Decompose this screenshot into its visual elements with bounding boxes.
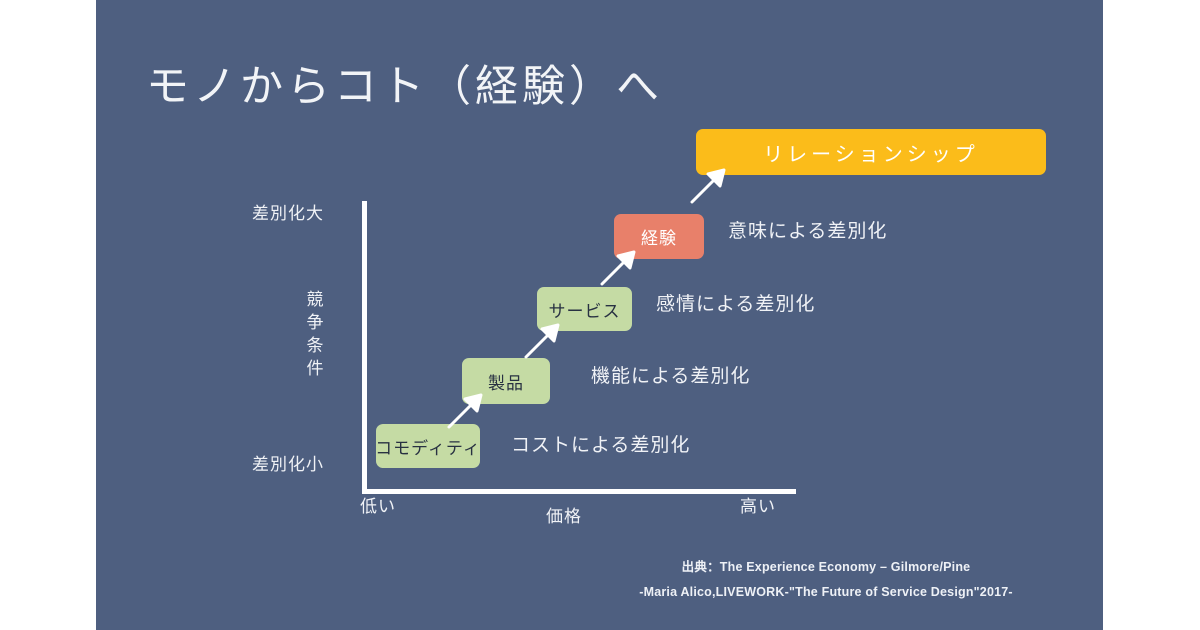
caption-meaning-differentiation: 意味による差別化	[728, 216, 887, 243]
y-axis-bottom-label: 差別化小	[252, 450, 324, 475]
x-axis-right-label: 高い	[740, 492, 776, 517]
caption-function-differentiation: 機能による差別化	[591, 361, 750, 388]
relationship-banner: リレーションシップ	[696, 129, 1046, 175]
caption-emotion-differentiation: 感情による差別化	[656, 289, 815, 316]
arrow-up-right-icon	[596, 248, 638, 290]
slide-canvas: モノからコト（経験）へ リレーションシップ 差別化大 差別化小 競争条件 低い …	[96, 0, 1103, 630]
source-line-1: 出典：The Experience Economy – Gilmore/Pine	[566, 555, 1086, 580]
x-axis-line	[362, 489, 796, 494]
y-axis-title: 競争条件	[304, 288, 326, 380]
arrow-up-right-icon	[686, 166, 728, 208]
arrow-up-right-icon	[443, 391, 485, 433]
page-title: モノからコト（経験）へ	[146, 52, 663, 114]
y-axis-top-label: 差別化大	[252, 199, 324, 224]
x-axis-title: 価格	[546, 502, 582, 527]
source-citation: 出典：The Experience Economy – Gilmore/Pine…	[566, 555, 1086, 605]
caption-cost-differentiation: コストによる差別化	[511, 430, 690, 457]
source-line-2: -Maria Alico,LIVEWORK-"The Future of Ser…	[566, 580, 1086, 605]
relationship-banner-label: リレーションシップ	[763, 138, 979, 167]
x-axis-left-label: 低い	[360, 492, 396, 517]
arrow-up-right-icon	[520, 321, 562, 363]
y-axis-line	[362, 201, 367, 493]
